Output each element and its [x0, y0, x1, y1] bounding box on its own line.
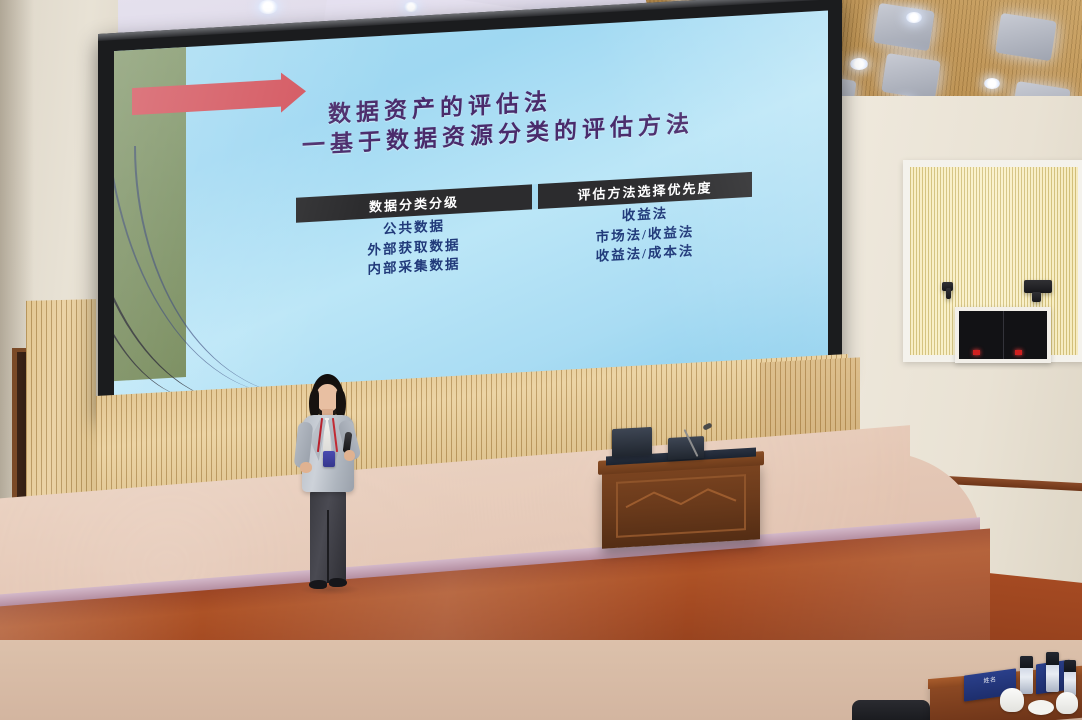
- wall-speaker: [946, 288, 951, 299]
- presenter-hand-right: [344, 450, 355, 461]
- wall-speaker: [1032, 292, 1041, 302]
- water-bottle[interactable]: [1046, 652, 1059, 692]
- water-bottle[interactable]: [1020, 656, 1033, 694]
- podium: [602, 461, 760, 548]
- presenter: [292, 372, 362, 600]
- status-indicator-light: [973, 350, 980, 355]
- water-bottle[interactable]: [1064, 660, 1076, 696]
- ceiling-light-panel: [1000, 18, 1052, 55]
- presenter-leg-gap: [327, 510, 329, 583]
- presenter-shoe-right: [329, 578, 347, 587]
- presenter-hand-left: [300, 462, 312, 473]
- screen-glare-secondary: [542, 11, 828, 400]
- ceiling-downlight: [404, 2, 418, 12]
- lecture-hall-photo: 数据资产的评估法 一基于数据资源分类的评估方法 数据分类分级 评估方法选择优先度…: [0, 0, 1082, 720]
- led-display-screen: 数据资产的评估法 一基于数据资源分类的评估方法 数据分类分级 评估方法选择优先度…: [98, 0, 842, 416]
- laptop[interactable]: [668, 436, 704, 460]
- ceiling-downlight: [984, 78, 1000, 89]
- tea-cup[interactable]: [1000, 688, 1024, 712]
- status-indicator-light: [1015, 350, 1022, 355]
- ceiling-downlight: [850, 58, 868, 70]
- laptop[interactable]: [612, 427, 652, 457]
- presenter-shoe-left: [309, 580, 327, 589]
- ceiling-downlight: [258, 0, 278, 14]
- tea-cup-lid[interactable]: [1028, 700, 1054, 715]
- screen-glare: [114, 11, 542, 400]
- ceiling-light-panel: [886, 59, 936, 95]
- wall-control-panel[interactable]: [955, 307, 1051, 363]
- presenter-badge: [323, 451, 335, 467]
- audience-chair[interactable]: [852, 700, 930, 720]
- slide-canvas: 数据资产的评估法 一基于数据资源分类的评估方法 数据分类分级 评估方法选择优先度…: [114, 11, 828, 400]
- ceiling-light-panel: [878, 8, 930, 45]
- tea-cup[interactable]: [1056, 692, 1078, 714]
- ceiling-downlight: [906, 12, 922, 23]
